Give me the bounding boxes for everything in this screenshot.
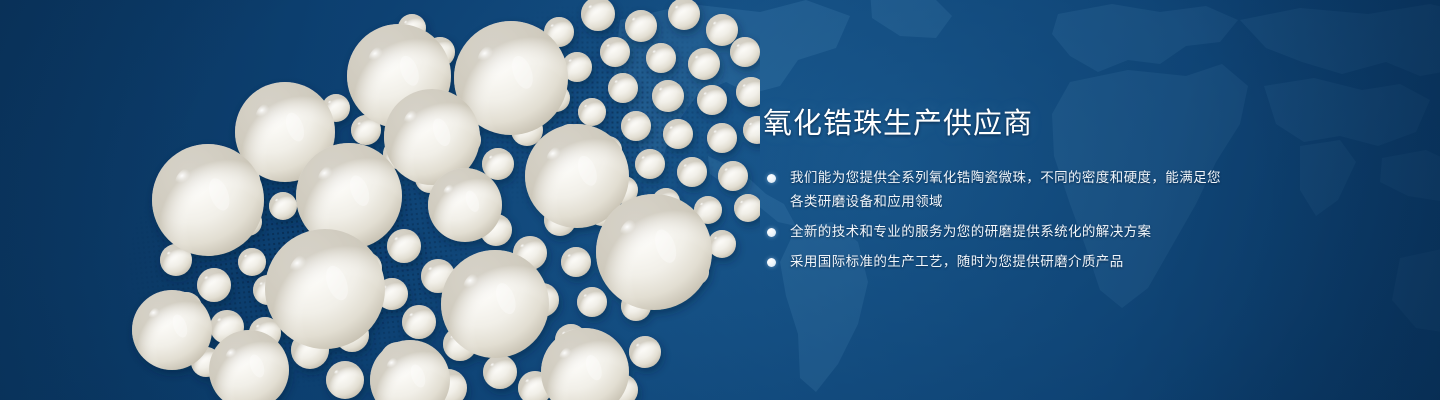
bullet-text: 采用国际标准的生产工艺，随时为您提供研磨介质产品 <box>790 250 1233 274</box>
list-item: 全新的技术和专业的服务为您的研磨提供系统化的解决方案 <box>763 220 1233 244</box>
hero-banner: 氧化锆珠生产供应商 我们能为您提供全系列氧化锆陶瓷微珠，不同的密度和硬度，能满足… <box>0 0 1440 400</box>
bullet-text: 全新的技术和专业的服务为您的研磨提供系统化的解决方案 <box>790 220 1233 244</box>
bullet-point-icon <box>767 174 776 183</box>
bullet-point-icon <box>767 228 776 237</box>
list-item: 采用国际标准的生产工艺，随时为您提供研磨介质产品 <box>763 250 1233 274</box>
feature-bullet-list: 我们能为您提供全系列氧化锆陶瓷微珠，不同的密度和硬度，能满足您各类研磨设备和应用… <box>763 166 1233 274</box>
bullet-point-icon <box>767 258 776 267</box>
bullet-text: 我们能为您提供全系列氧化锆陶瓷微珠，不同的密度和硬度，能满足您各类研磨设备和应用… <box>790 166 1233 214</box>
zirconia-bead-cluster-image <box>0 0 760 400</box>
page-title: 氧化锆珠生产供应商 <box>763 104 1233 144</box>
list-item: 我们能为您提供全系列氧化锆陶瓷微珠，不同的密度和硬度，能满足您各类研磨设备和应用… <box>763 166 1233 214</box>
banner-text-block: 氧化锆珠生产供应商 我们能为您提供全系列氧化锆陶瓷微珠，不同的密度和硬度，能满足… <box>763 104 1233 274</box>
